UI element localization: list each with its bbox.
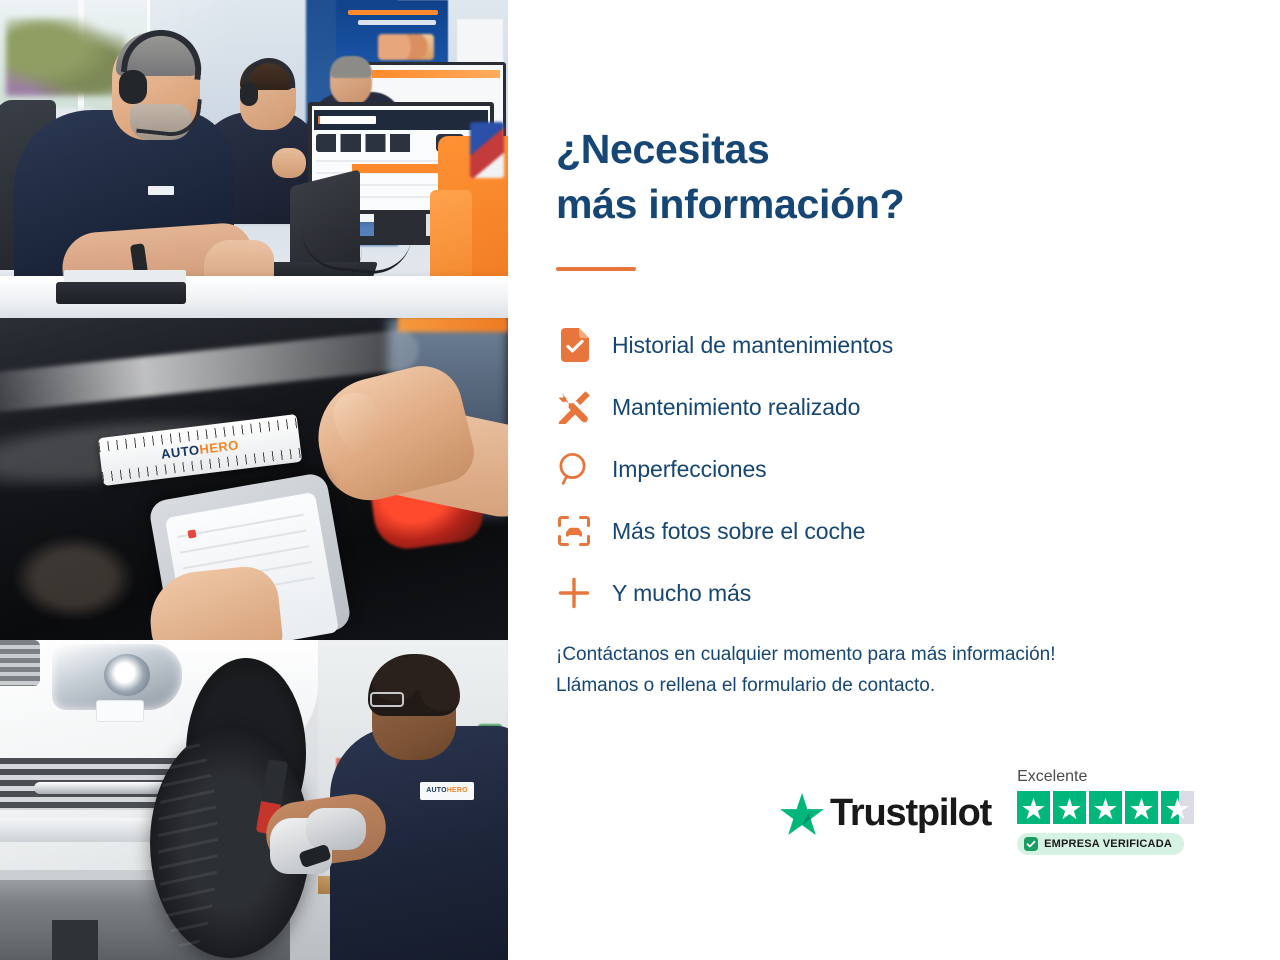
feature-item-mantenimiento: Mantenimiento realizado xyxy=(556,376,1076,438)
agent-two-headset-earcup xyxy=(240,82,258,106)
rating-label: Excelente xyxy=(1017,768,1194,786)
check-circle-icon xyxy=(1024,837,1038,851)
poster-headline-bar xyxy=(348,10,438,15)
feature-label: Más fotos sobre el coche xyxy=(612,518,865,545)
trustpilot-star-icon xyxy=(780,793,824,835)
mechanic-glove-right xyxy=(306,808,366,850)
desk-keyboard xyxy=(56,282,186,304)
trustpilot-wordmark: Trustpilot xyxy=(830,792,991,835)
tire-tread xyxy=(158,736,218,950)
monitor-car-thumbnails xyxy=(316,134,428,152)
tablet-status-marker xyxy=(187,529,196,538)
mechanic-glasses xyxy=(370,692,404,707)
star-filled-2 xyxy=(1053,791,1086,824)
brand-word-hero: HERO xyxy=(199,437,240,457)
star-filled-3 xyxy=(1089,791,1122,824)
promo-banner: AUTOHERO xyxy=(0,0,1280,960)
license-plate-blank xyxy=(96,700,144,722)
feature-item-mucho-mas: Y mucho más xyxy=(556,562,1076,624)
call-center-agents-photo xyxy=(0,0,508,318)
body-reflection-lower xyxy=(14,536,134,620)
star-filled-4 xyxy=(1125,791,1158,824)
feature-label: Y mucho más xyxy=(612,580,751,607)
wheel-fitting-photo: AUTOHERO xyxy=(0,640,508,960)
magnifier-icon xyxy=(556,451,592,487)
badge-word-auto: AUTO xyxy=(426,787,447,794)
verified-company-badge: EMPRESA VERIFICADA xyxy=(1017,833,1184,855)
content-panel: ¿Necesitas más información? Historial de… xyxy=(508,0,1280,960)
tools-wrench-screwdriver-icon xyxy=(556,389,592,425)
poster-subtext-bar xyxy=(358,20,436,25)
feature-item-imperfecciones: Imperfecciones xyxy=(556,438,1076,500)
agent-two-hand xyxy=(272,148,306,178)
poster-people-image xyxy=(378,34,434,60)
trustpilot-score: Excelente xyxy=(1017,768,1194,855)
verified-badge-label: EMPRESA VERIFICADA xyxy=(1044,838,1172,850)
agent-three-hair xyxy=(330,56,372,78)
star-rating xyxy=(1017,791,1194,824)
trustpilot-rating-block[interactable]: Trustpilot Excelente xyxy=(780,768,1194,855)
page-title: ¿Necesitas más información? xyxy=(556,122,904,232)
feature-item-fotos: Más fotos sobre el coche xyxy=(556,500,1076,562)
document-check-icon xyxy=(556,327,592,363)
contact-text: ¡Contáctanos en cualquier momento para m… xyxy=(556,639,1236,702)
car-photo-frame-icon xyxy=(556,513,592,549)
trustpilot-logo[interactable]: Trustpilot xyxy=(780,792,991,835)
feature-item-historial: Historial de mantenimientos xyxy=(556,314,1076,376)
plus-icon xyxy=(556,575,592,611)
dent-measurement-photo: AUTOHERO xyxy=(0,318,508,640)
photo-column: AUTOHERO xyxy=(0,0,508,960)
background-monitor-banner xyxy=(372,70,500,78)
star-filled-1 xyxy=(1017,791,1050,824)
brand-word-auto: AUTO xyxy=(160,442,200,462)
outdoor-greenery xyxy=(6,18,126,96)
lift-post xyxy=(52,920,98,960)
agent-one-polo-logo xyxy=(148,186,174,195)
mechanic-autohero-badge: AUTOHERO xyxy=(420,782,474,800)
headlight-lens xyxy=(104,654,150,696)
title-divider xyxy=(556,267,636,271)
car-grille xyxy=(0,640,40,686)
monitor-search-field xyxy=(320,116,376,124)
feature-label: Historial de mantenimientos xyxy=(612,332,893,359)
feature-label: Imperfecciones xyxy=(612,456,767,483)
feature-label: Mantenimiento realizado xyxy=(612,394,860,421)
orange-background-strip xyxy=(398,318,508,332)
wall-decoration xyxy=(470,122,504,178)
feature-list: Historial de mantenimientos Mantenimient… xyxy=(556,314,1076,624)
badge-word-hero: HERO xyxy=(447,787,468,794)
star-partial-5 xyxy=(1161,791,1194,824)
